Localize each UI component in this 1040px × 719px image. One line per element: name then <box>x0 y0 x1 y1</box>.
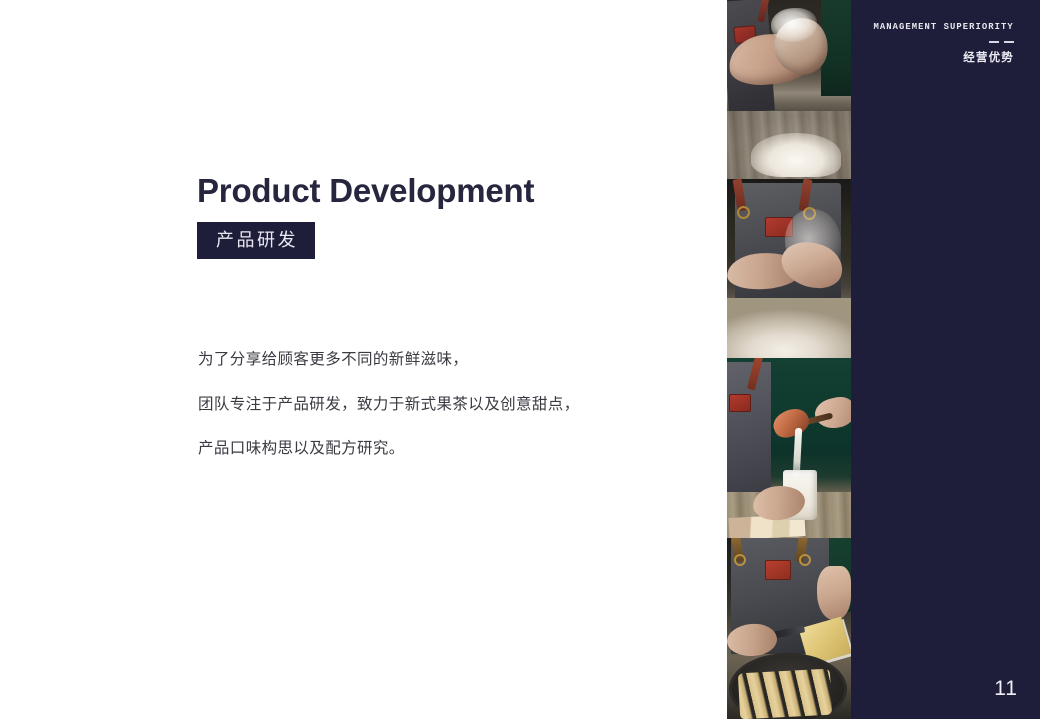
section-header-chinese: 经营优势 <box>863 53 1014 65</box>
photo-pouring-milk <box>727 358 851 538</box>
photo-flour-sprinkle <box>727 0 851 179</box>
copper-pot-shape <box>769 404 812 442</box>
photo-flour-clap <box>727 179 851 358</box>
photo-strip <box>727 0 851 719</box>
divider-dash <box>989 41 999 43</box>
apron-ring-shape <box>734 554 746 566</box>
section-header: MANAGEMENT SUPERIORITY 经营优势 <box>863 22 1014 64</box>
page-number: 11 <box>994 678 1018 699</box>
pastry-sticks-shape <box>738 669 832 719</box>
arm-shape <box>817 566 851 620</box>
body-line-3: 产品口味构思以及配方研究。 <box>198 441 668 457</box>
body-line-1: 为了分享给顾客更多不同的新鲜滋味， <box>198 352 668 368</box>
header-divider <box>863 41 1014 43</box>
photo-cutting-butter <box>727 538 851 719</box>
apron-patch-shape <box>765 560 791 580</box>
page-title: Product Development <box>197 172 697 211</box>
apron-patch-shape <box>729 394 751 412</box>
body-line-2: 团队专注于产品研发，致力于新式果茶以及创意甜点， <box>198 397 668 413</box>
body-copy: 为了分享给顾客更多不同的新鲜滋味， 团队专注于产品研发，致力于新式果茶以及创意甜… <box>198 352 668 457</box>
milk-stream-shape <box>793 428 803 476</box>
title-block: Product Development 产品研发 <box>197 172 697 259</box>
apron-ring-shape <box>799 554 811 566</box>
flour-pile-shape <box>751 133 841 177</box>
navy-side-panel: MANAGEMENT SUPERIORITY 经营优势 11 <box>851 0 1040 719</box>
section-header-english: MANAGEMENT SUPERIORITY <box>874 22 1014 32</box>
apron-ring-shape <box>737 206 750 219</box>
slide-canvas: Product Development 产品研发 为了分享给顾客更多不同的新鲜滋… <box>0 0 1040 719</box>
table-shape <box>727 298 851 358</box>
subtitle-badge: 产品研发 <box>197 222 315 259</box>
divider-dash <box>1004 41 1014 43</box>
content-area: Product Development 产品研发 为了分享给顾客更多不同的新鲜滋… <box>0 0 727 719</box>
